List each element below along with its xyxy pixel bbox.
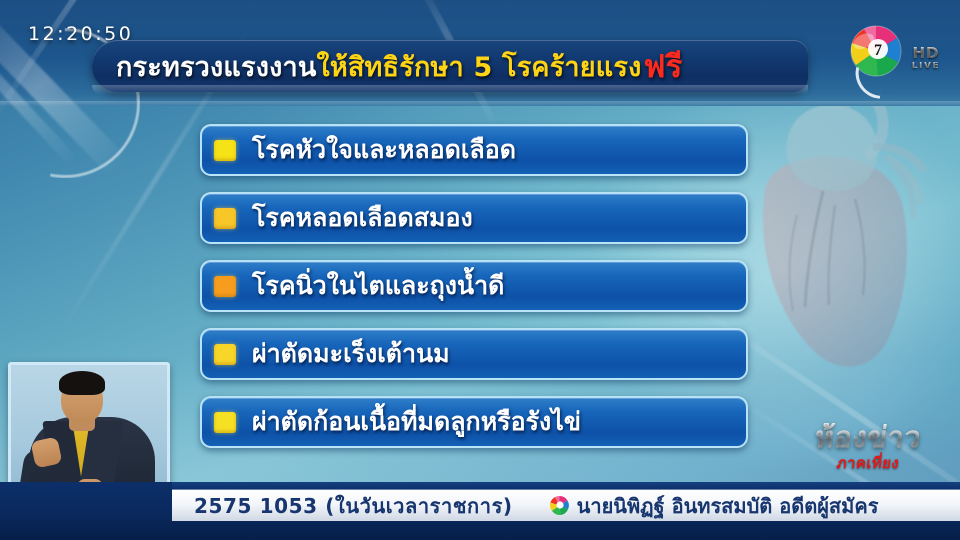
bullet-square-icon xyxy=(214,344,236,365)
bullet-square-icon xyxy=(214,140,236,161)
list-item[interactable]: ผ่าตัดก้อนเนื้อที่มดลูกหรือรังไข่ xyxy=(200,396,748,448)
hd-label: HD xyxy=(903,46,949,62)
list-item-label: โรคนิ่วในไตและถุงน้ำดี xyxy=(252,266,504,306)
list-item[interactable]: โรคหัวใจและหลอดเลือด xyxy=(200,124,748,176)
ticker-person-text: นายนิพิฏฐ์ อินทรสมบัติ อดีตผู้สมัคร xyxy=(577,490,879,522)
list-item[interactable]: โรคนิ่วในไตและถุงน้ำดี xyxy=(200,260,748,312)
headline-banner: กระทรวงแรงงานให้สิทธิรักษา 5 โรคร้ายแรงฟ… xyxy=(92,40,808,92)
list-item[interactable]: โรคหลอดเลือดสมอง xyxy=(200,192,748,244)
ticker-phone-text: 2575 1053 (ในวันเวลาราชการ) xyxy=(172,490,513,522)
list-item-label: โรคหลอดเลือดสมอง xyxy=(252,198,473,238)
bullet-square-icon xyxy=(214,208,236,229)
headline-part-red: ฟรี xyxy=(641,41,682,91)
svg-text:7: 7 xyxy=(874,42,882,59)
headline-text: กระทรวงแรงงานให้สิทธิรักษา 5 โรคร้ายแรงฟ… xyxy=(116,40,794,92)
list-item-label: โรคหัวใจและหลอดเลือด xyxy=(252,130,516,170)
hd-live-badge: HD LIVE xyxy=(903,46,949,71)
program-logo: ห้องข่าว ภาคเที่ยง xyxy=(786,423,950,479)
program-logo-subtitle: ภาคเที่ยง xyxy=(785,451,952,475)
list-item-label: ผ่าตัดมะเร็งเต้านม xyxy=(252,334,450,374)
channel-7-ball-logo: 7 xyxy=(847,25,905,83)
list-item[interactable]: ผ่าตัดมะเร็งเต้านม xyxy=(200,328,748,380)
bullet-square-icon xyxy=(214,276,236,297)
disease-list: โรคหัวใจและหลอดเลือด โรคหลอดเลือดสมอง โร… xyxy=(200,124,748,448)
bullet-square-icon xyxy=(214,412,236,433)
interpreter-hair xyxy=(59,371,105,395)
live-label: LIVE xyxy=(903,62,949,71)
anatomical-heart-illustration xyxy=(735,95,960,385)
list-item-label: ผ่าตัดก้อนเนื้อที่มดลูกหรือรังไข่ xyxy=(252,402,581,442)
headline-part-yellow: ให้สิทธิรักษา 5 โรคร้ายแรง xyxy=(317,45,642,88)
program-logo-title: ห้องข่าว xyxy=(784,423,952,452)
broadcast-screen: 12:20:50 กระทรวงแรงงานให้สิทธิรักษา 5 โร… xyxy=(0,0,960,540)
headline-part-white: กระทรวงแรงงาน xyxy=(116,45,317,88)
bottom-ticker: 2575 1053 (ในวันเวลาราชการ) นายนิพิฏฐ์ อ… xyxy=(172,490,960,521)
channel-7-small-logo-icon xyxy=(549,495,570,516)
